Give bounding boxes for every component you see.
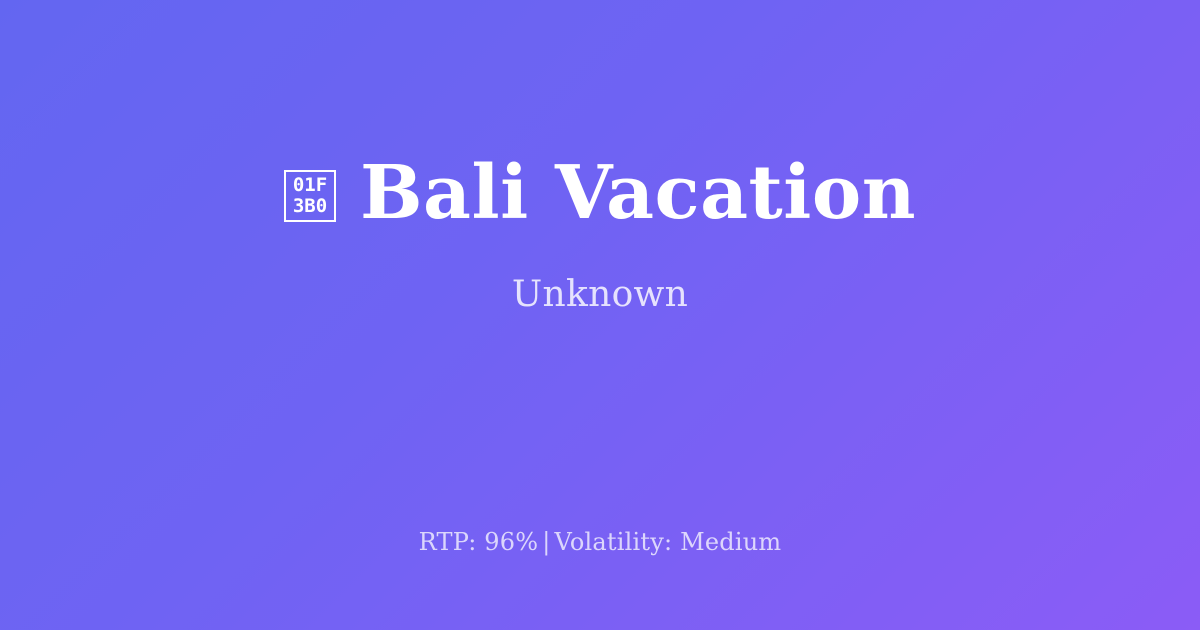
game-preview-card: 01F 3B0 Bali Vacation Unknown RTP: 96%|V… xyxy=(0,0,1200,630)
provider-subtitle: Unknown xyxy=(512,274,688,315)
rtp-value: RTP: 96% xyxy=(419,528,539,556)
title-row: 01F 3B0 Bali Vacation xyxy=(284,155,916,233)
page-title: Bali Vacation xyxy=(360,155,916,233)
icon-codepoint-top: 01F xyxy=(293,175,327,196)
volatility-value: Volatility: Medium xyxy=(555,528,782,556)
slot-machine-icon: 01F 3B0 xyxy=(284,170,336,222)
game-stats-line: RTP: 96%|Volatility: Medium xyxy=(0,528,1200,556)
icon-codepoint-bottom: 3B0 xyxy=(293,196,327,217)
hero-block: 01F 3B0 Bali Vacation Unknown xyxy=(0,0,1200,470)
stats-separator: | xyxy=(538,528,554,556)
